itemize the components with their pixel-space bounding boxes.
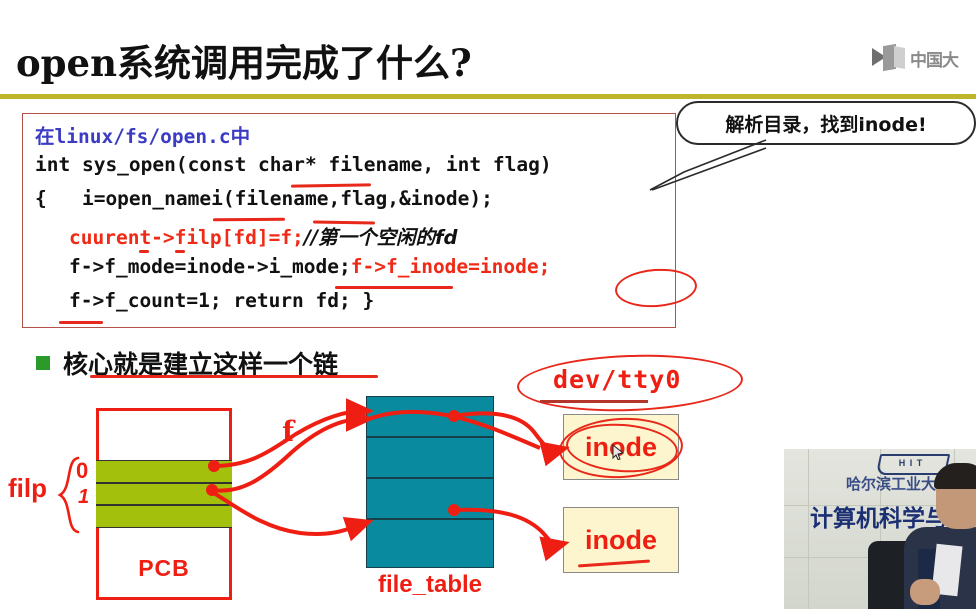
lecturer-video-overlay[interactable]: H I T 哈尔滨工业大学 计算机科学与技 [782, 447, 976, 609]
code-filp-red: cuurent->filp[fd]=f; [69, 226, 304, 249]
book-logo-icon [872, 45, 906, 71]
logo-text: 中国大 [910, 46, 974, 71]
china-university-mooc-logo: 中国大 [872, 41, 976, 75]
annotation-underline-devtty [540, 400, 648, 403]
filp-index-1: 1 [78, 486, 89, 509]
bullet-square-icon [36, 356, 50, 370]
annotation-underline-f-count [59, 321, 103, 324]
filp-row-1 [96, 483, 232, 506]
annotation-underline-fd [139, 250, 149, 253]
filp-row-2 [96, 505, 232, 528]
title-divider [0, 94, 976, 99]
code-line-signature: int sys_open(const char* filename, int f… [35, 153, 552, 176]
file-table-separator-1 [366, 436, 494, 438]
file-table-label: file_table [356, 571, 504, 599]
slide-canvas: open系统调用完成了什么? 中国大 在linux/fs/open.c中 int… [0, 0, 976, 607]
filp-label: filp [8, 473, 47, 504]
devtty-label: dev/tty0 [553, 365, 681, 394]
pcb-label: PCB [96, 555, 232, 582]
pcb-filp-rows [96, 460, 232, 528]
annotation-circle-inode [614, 266, 698, 310]
file-table-separator-3 [366, 518, 494, 520]
page-title: open系统调用完成了什么? [16, 33, 472, 87]
annotation-underline-f-inode [335, 286, 453, 289]
f-pointer-label: f [282, 415, 294, 448]
code-line-namei: { i=open_namei(filename,flag,&inode); [35, 187, 493, 210]
filp-index-0: 0 [76, 458, 88, 484]
code-mode-black: f->f_mode=inode->i_mode; [69, 255, 351, 278]
code-line-filp: cuurent->filp[fd]=f;//第一个空闲的fd [69, 221, 458, 250]
code-block: 在linux/fs/open.c中 int sys_open(const cha… [22, 113, 676, 328]
code-line-count: f->f_count=1; return fd; } [69, 289, 374, 312]
code-line-path: 在linux/fs/open.c中 [35, 120, 250, 149]
file-table-box [366, 396, 494, 568]
callout-tail-icon [648, 138, 768, 194]
video-person-hand [910, 579, 940, 605]
annotation-underline-f [175, 250, 185, 253]
code-filp-comment: //第一个空闲的fd [304, 226, 458, 249]
code-line-mode: f->f_mode=inode->i_mode;f->f_inode=inode… [69, 255, 550, 278]
code-inode-red: f->f_inode=inode; [351, 255, 551, 278]
annotation-underline-bullet [90, 375, 378, 378]
annotation-underline-filename-arg [213, 218, 285, 222]
file-table-separator-2 [366, 477, 494, 479]
filp-row-0 [96, 460, 232, 483]
pen-cursor-icon [612, 444, 626, 460]
inode-2-label: inode [585, 525, 657, 556]
hit-logo-text: H I T [880, 453, 942, 473]
